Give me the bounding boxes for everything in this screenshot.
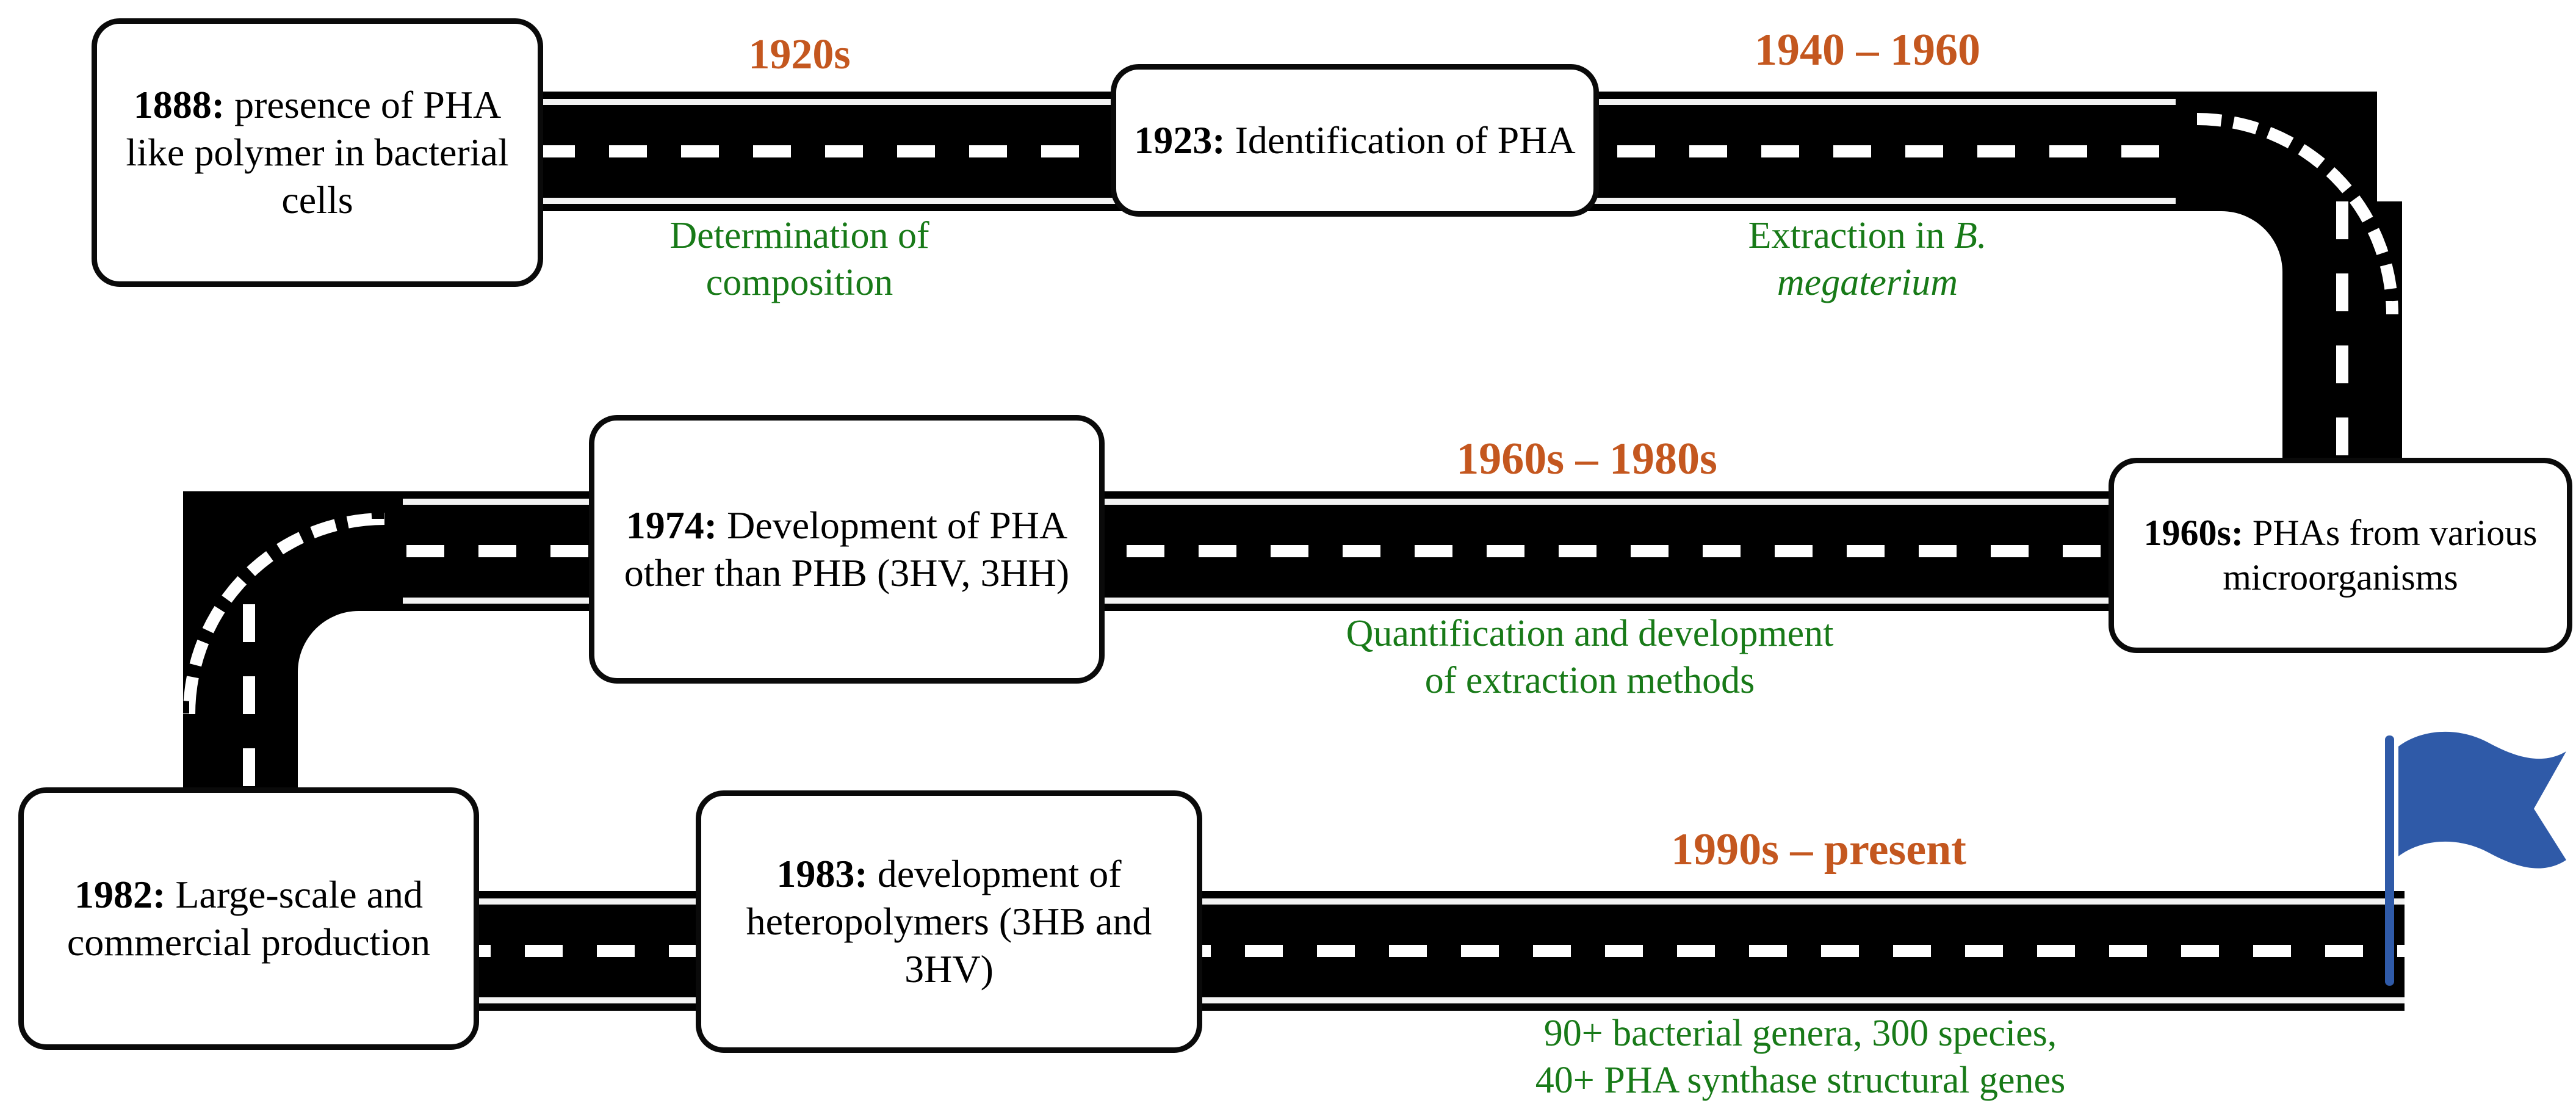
note-quantification-extraction-methods: Quantification and development of extrac… <box>1208 610 1971 704</box>
milestone-text: 1983: development of heteropolymers (3HB… <box>715 850 1183 993</box>
note-line-2: of extraction methods <box>1425 660 1755 701</box>
milestone-year: 1974: <box>626 504 717 547</box>
milestone-text: 1923: Identification of PHA <box>1134 117 1575 164</box>
road-edge-line-top <box>165 898 2405 905</box>
era-label-1940-1960: 1940 – 1960 <box>1672 24 2063 76</box>
note-extraction-b-megaterium: Extraction in B. megaterium <box>1684 212 2051 306</box>
milestone-box-1888[interactable]: 1888: presence of PHA like polymer in ba… <box>92 18 543 287</box>
milestone-box-1974[interactable]: 1974: Development of PHA other than PHB … <box>589 415 1105 684</box>
note-determination-of-composition: Determination of composition <box>647 212 952 306</box>
milestone-text: 1982: Large-scale and commercial product… <box>37 871 460 966</box>
note-line-2: composition <box>706 262 893 303</box>
note-line-1: Determination of <box>669 215 929 256</box>
note-line-2: 40+ PHA synthase structural genes <box>1535 1060 2065 1101</box>
road-center-dashes <box>165 945 2405 957</box>
pha-timeline-diagram: 1888: presence of PHA like polymer in ba… <box>0 0 2576 1120</box>
road-edge-line-top <box>262 499 2313 505</box>
finish-flag-icon <box>2380 729 2575 992</box>
milestone-box-1982[interactable]: 1982: Large-scale and commercial product… <box>18 787 479 1050</box>
species-epithet: megaterium <box>1777 262 1958 303</box>
flag-pole <box>2385 735 2394 986</box>
note-line-1: Quantification and development <box>1346 613 1834 654</box>
note-line-1: Extraction in B. <box>1748 215 1987 256</box>
note-line-1-text: Extraction in <box>1748 215 1954 256</box>
finish-flag <box>2380 729 2575 992</box>
milestone-text: 1960s: PHAs from various microorganisms <box>2127 511 2553 600</box>
milestone-text: 1974: Development of PHA other than PHB … <box>608 502 1086 597</box>
milestone-year: 1983: <box>776 852 867 895</box>
milestone-year: 1960s: <box>2144 513 2243 553</box>
milestone-year: 1982: <box>74 873 165 916</box>
road-edge-line-bottom <box>165 997 2405 1003</box>
road-center-dashes <box>262 545 2313 557</box>
road-segment-row2 <box>262 491 2313 611</box>
milestone-year: 1923: <box>1134 118 1225 162</box>
milestone-box-1960s[interactable]: 1960s: PHAs from various microorganisms <box>2109 458 2572 653</box>
milestone-body: Identification of PHA <box>1225 118 1576 162</box>
era-label-1960s-1980s: 1960s – 1980s <box>1379 433 1794 485</box>
milestone-body: PHAs from various microorganisms <box>2223 513 2537 598</box>
flag-banner <box>2398 732 2566 869</box>
milestone-box-1923[interactable]: 1923: Identification of PHA <box>1111 64 1599 217</box>
milestone-text: 1888: presence of PHA like polymer in ba… <box>110 81 524 224</box>
milestone-year: 1888: <box>134 83 225 126</box>
milestone-box-1983[interactable]: 1983: development of heteropolymers (3HB… <box>696 790 1202 1053</box>
note-line-1: 90+ bacterial genera, 300 species, <box>1544 1013 2057 1054</box>
era-label-1920s: 1920s <box>690 31 909 79</box>
note-genera-species-genes: 90+ bacterial genera, 300 species, 40+ P… <box>1367 1010 2234 1104</box>
road-edge-line-bottom <box>262 598 2313 604</box>
species-genus-abbrev: B. <box>1954 215 1986 256</box>
road-segment-row3 <box>165 891 2405 1011</box>
era-label-1990s-present: 1990s – present <box>1593 824 2044 876</box>
